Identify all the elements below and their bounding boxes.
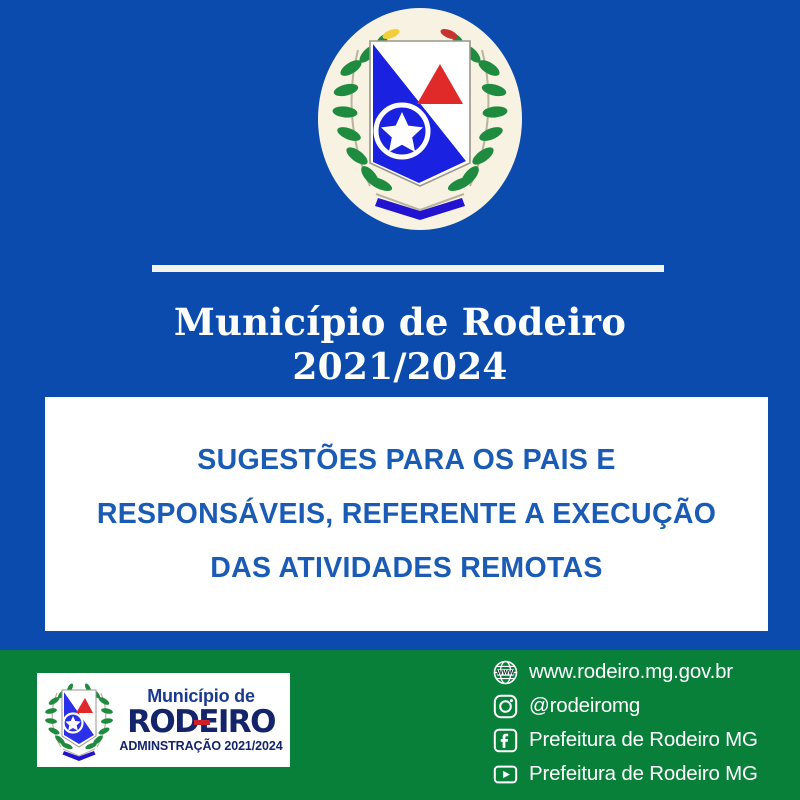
message-line-1: SUGESTÕES PARA OS PAIS E <box>197 433 615 487</box>
page-title-line2: 2021/2024 <box>0 345 800 390</box>
coat-of-arms-icon <box>318 8 522 230</box>
instagram-label: @rodeiromg <box>529 695 640 717</box>
youtube-label: Prefeitura de Rodeiro MG <box>529 763 758 785</box>
instagram-icon <box>492 693 518 719</box>
divider-rule <box>152 265 664 272</box>
footer-logo-administracao: ADMINSTRAÇÃO 2021/2024 <box>116 738 286 754</box>
footer-logo-red-stripe <box>194 720 210 725</box>
svg-text:WWW: WWW <box>496 669 514 676</box>
footer-logo-rodeiro: RODEIRO <box>127 706 275 738</box>
globe-www-icon: WWW <box>492 659 518 685</box>
social-contact-list: WWW www.rodeiro.mg.gov.br @rodeiromg <box>492 655 792 791</box>
youtube-icon <box>492 761 518 787</box>
crest-artwork <box>318 8 522 230</box>
coat-of-arms-small-icon <box>42 677 116 763</box>
footer-logo-municipio: Município de <box>116 686 286 706</box>
facebook-icon <box>492 727 518 753</box>
social-row-website[interactable]: WWW www.rodeiro.mg.gov.br <box>492 655 792 689</box>
message-line-2: RESPONSÁVEIS, REFERENTE A EXECUÇÃO <box>97 487 716 541</box>
website-label: www.rodeiro.mg.gov.br <box>529 661 733 683</box>
facebook-label: Prefeitura de Rodeiro MG <box>529 729 758 751</box>
social-row-instagram[interactable]: @rodeiromg <box>492 689 792 723</box>
poster-canvas: Município de Rodeiro 2021/2024 SUGESTÕES… <box>0 0 800 800</box>
social-row-youtube[interactable]: Prefeitura de Rodeiro MG <box>492 757 792 791</box>
page-title: Município de Rodeiro 2021/2024 <box>0 300 800 390</box>
page-title-line1: Município de Rodeiro <box>174 300 626 344</box>
footer-logo-text: Município de RODEIRO ADMINSTRAÇÃO 2021/2… <box>116 686 290 754</box>
social-row-facebook[interactable]: Prefeitura de Rodeiro MG <box>492 723 792 757</box>
message-box: SUGESTÕES PARA OS PAIS E RESPONSÁVEIS, R… <box>45 397 768 631</box>
footer-logo-card: Município de RODEIRO ADMINSTRAÇÃO 2021/2… <box>37 673 290 767</box>
message-line-3: DAS ATIVIDADES REMOTAS <box>210 541 602 595</box>
